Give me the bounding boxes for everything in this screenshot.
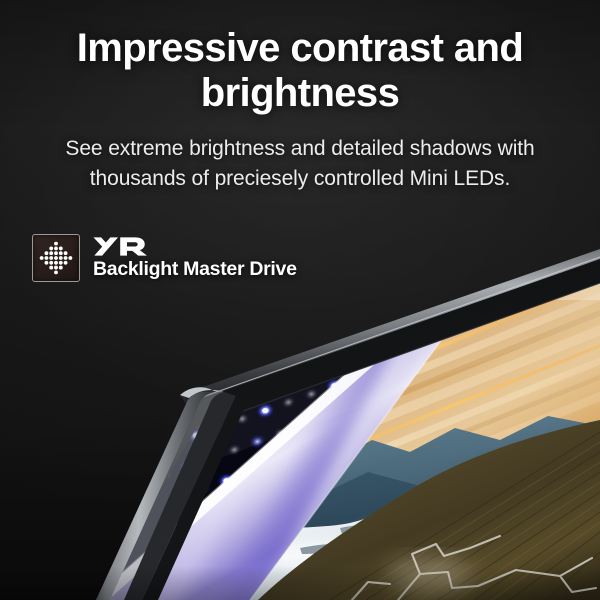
- page-subtitle: See extreme brightness and detailed shad…: [40, 134, 560, 194]
- xr-logo: [93, 236, 297, 257]
- product-feature-banner: Impressive contrast and brightness See e…: [0, 0, 600, 600]
- page-title: Impressive contrast and brightness: [40, 26, 560, 116]
- badge-text-group: Backlight Master Drive: [93, 236, 297, 280]
- xr-led-diamond-icon: [32, 234, 80, 282]
- xr-backlight-master-drive-badge: Backlight Master Drive: [32, 234, 297, 282]
- badge-subtitle: Backlight Master Drive: [93, 260, 297, 280]
